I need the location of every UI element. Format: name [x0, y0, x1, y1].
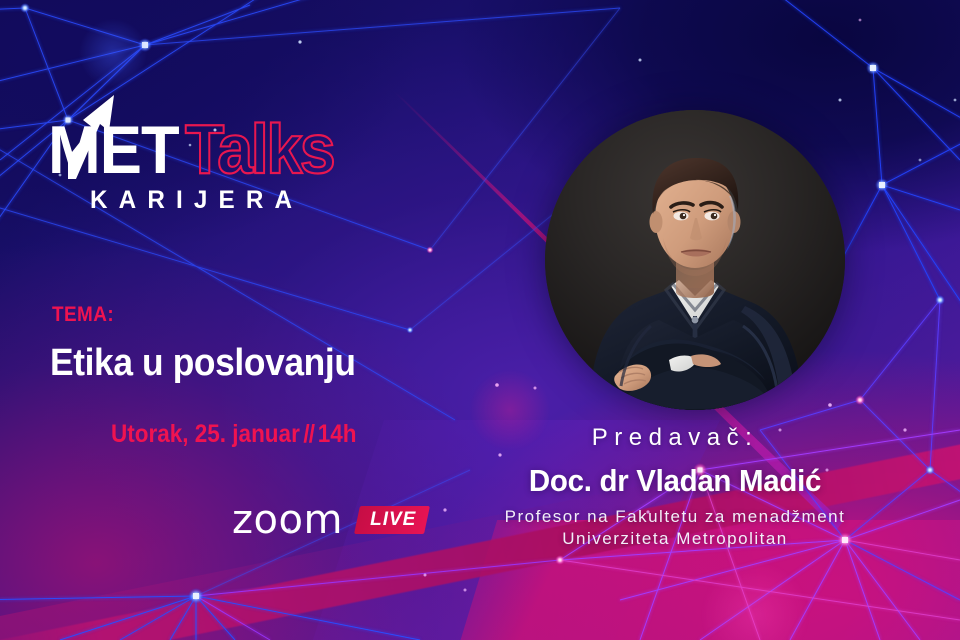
event-datetime: Utorak, 25. januar//14h — [111, 420, 357, 449]
live-badge-label: LIVE — [370, 510, 416, 529]
speaker-affiliation-line-1: Profesor na Fakultetu za menadžment — [460, 506, 890, 528]
datetime-separator: // — [300, 420, 318, 448]
left-content-column: MET Talks KARIJERA TEMA: Etika u poslova… — [0, 0, 470, 640]
live-badge: LIVE — [354, 506, 430, 534]
speaker-name: Doc. dr Vladan Madić — [471, 463, 880, 499]
event-date: Utorak, 25. januar — [111, 420, 300, 448]
met-talks-logo: MET Talks KARIJERA — [48, 107, 408, 215]
event-time: 14h — [318, 420, 357, 448]
logo-met-text: MET — [48, 121, 179, 179]
speaker-affiliation: Profesor na Fakultetu za menadžment Univ… — [460, 506, 890, 550]
topic-label: TEMA: — [52, 303, 114, 327]
logo-subtitle-karijera: KARIJERA — [90, 186, 398, 215]
zoom-live-group: zoom LIVE — [232, 500, 427, 540]
speaker-portrait — [545, 110, 845, 410]
speaker-label: Predavač: — [460, 424, 890, 452]
speaker-affiliation-line-2: Univerziteta Metropolitan — [460, 528, 890, 550]
speaker-info: Predavač: Doc. dr Vladan Madić Profesor … — [460, 424, 890, 550]
zoom-logo-text: zoom — [232, 500, 343, 540]
met-talks-promo-banner: MET Talks KARIJERA TEMA: Etika u poslova… — [0, 0, 960, 640]
logo-talks-text: Talks — [185, 119, 333, 179]
logo-wordmark-row: MET Talks — [48, 107, 408, 179]
topic-title: Etika u poslovanju — [50, 342, 356, 385]
